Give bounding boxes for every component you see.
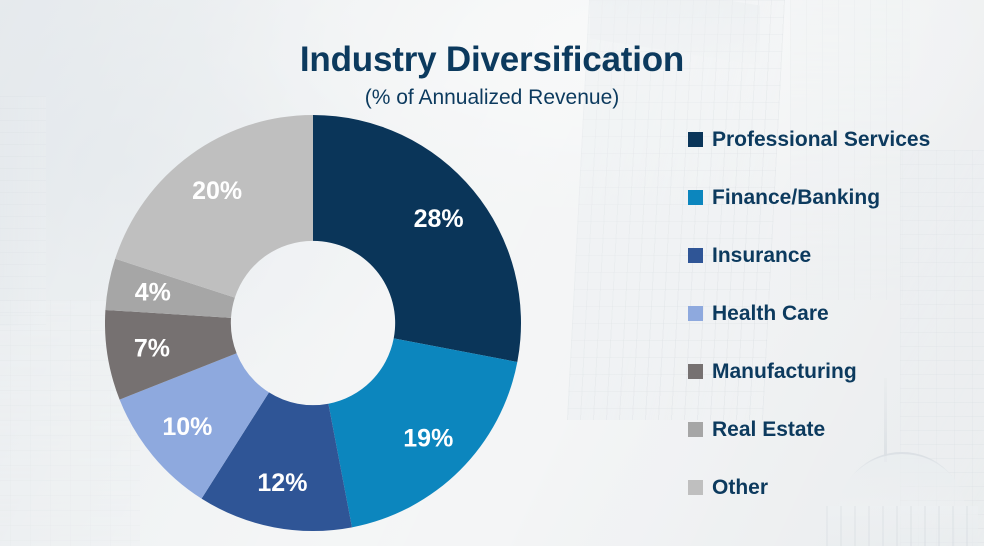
legend-swatch-icon [688,132,703,147]
legend-item-health-care[interactable]: Health Care [688,298,978,328]
legend-label: Real Estate [712,419,825,440]
legend-swatch-icon [688,190,703,205]
legend-label: Finance/Banking [712,187,880,208]
background-dome-base [826,506,978,546]
legend-swatch-icon [688,248,703,263]
slide-canvas: Industry Diversification (% of Annualize… [0,0,984,546]
legend-swatch-icon [688,306,703,321]
chart-title: Industry Diversification [0,40,984,79]
donut-data-label: 10% [162,413,212,441]
legend-label: Health Care [712,303,829,324]
legend-item-real-estate[interactable]: Real Estate [688,414,978,444]
donut-data-label: 4% [135,278,171,306]
legend-swatch-icon [688,364,703,379]
chart-subtitle: (% of Annualized Revenue) [0,85,984,110]
legend-item-professional-services[interactable]: Professional Services [688,124,978,154]
legend-item-finance-banking[interactable]: Finance/Banking [688,182,978,212]
title-block: Industry Diversification (% of Annualize… [0,40,984,110]
donut-data-label: 28% [414,205,464,233]
legend-item-other[interactable]: Other [688,472,978,502]
chart-legend: Professional Services Finance/Banking In… [688,124,978,502]
legend-label: Professional Services [712,129,930,150]
donut-slice-group [105,115,521,531]
legend-swatch-icon [688,480,703,495]
legend-label: Manufacturing [712,361,857,382]
donut-chart: 28%19%12%10%7%4%20% [105,115,521,531]
background-building-left-tall [0,96,46,326]
legend-item-insurance[interactable]: Insurance [688,240,978,270]
legend-label: Insurance [712,245,811,266]
donut-slice[interactable] [313,115,521,362]
donut-data-label: 19% [403,424,453,452]
legend-label: Other [712,477,768,498]
legend-swatch-icon [688,422,703,437]
legend-item-manufacturing[interactable]: Manufacturing [688,356,978,386]
donut-data-label: 20% [192,177,242,205]
donut-data-label: 12% [257,469,307,497]
donut-data-label: 7% [134,335,170,363]
donut-chart-svg: 28%19%12%10%7%4%20% [105,115,521,531]
